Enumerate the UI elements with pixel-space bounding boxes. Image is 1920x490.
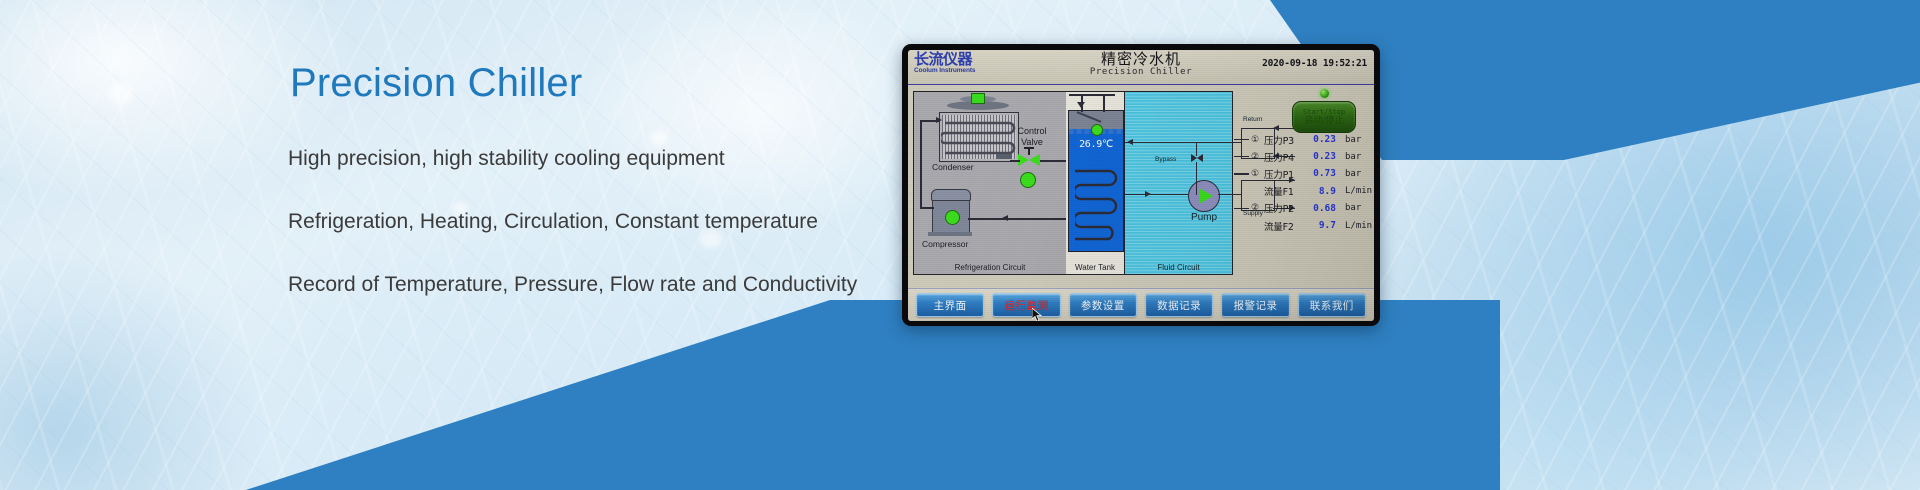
pipe-bypass-upper (1196, 142, 1197, 156)
compressor-head (931, 189, 971, 201)
readout-value: 0.68 (1308, 203, 1336, 214)
readout-unit: bar (1345, 169, 1361, 179)
nav-button-data-log[interactable]: 数据记录 (1145, 293, 1213, 317)
readout-value: 0.23 (1308, 151, 1336, 162)
tank-temperature-value: 26.9℃ (1069, 139, 1123, 150)
condenser-label: Condenser (932, 162, 974, 172)
zone-fluid-circuit: Pump Bypass (1124, 92, 1232, 274)
zone-label-water-tank: Water Tank (1066, 263, 1124, 272)
condenser-tubes-icon (941, 117, 1017, 157)
start-stop-label-en: Start/Stop (1303, 109, 1345, 116)
condenser-base (996, 154, 1012, 159)
pipe-condenser-to-valve (1010, 160, 1020, 162)
zone-refrigeration-circuit: Condenser Compressor Control Valve (914, 92, 1066, 274)
datetime-stamp: 2020-09-18 19:52:21 (1262, 58, 1367, 69)
pipe-return-header (1125, 142, 1241, 143)
pump-impeller-arrow (1199, 188, 1213, 204)
port-row (1234, 183, 1262, 200)
hmi-nav-bar: 主界面 运行监测 参数设置 数据记录 报警记录 联系我们 (908, 288, 1374, 321)
readout-label: 流量F2 (1264, 219, 1308, 233)
pipe-bypass-lower (1196, 162, 1197, 195)
port-index-column: ① ② ① ② (1234, 131, 1262, 234)
port-leader-line (1234, 208, 1249, 209)
pipe-compressor-suction (920, 207, 934, 209)
process-mimic-diagram: Condenser Compressor Control Valve (913, 91, 1233, 275)
flow-arrow-condenser-in (936, 117, 942, 123)
pump-label: Pump (1179, 212, 1229, 223)
control-valve-label-line1: Control (1017, 126, 1046, 136)
compressor-label: Compressor (922, 239, 968, 249)
fan-status-led (971, 93, 985, 104)
compressor-status-led (945, 210, 960, 225)
readout-unit: bar (1345, 203, 1361, 213)
hmi-header: 长流仪器 Coolum Instruments 精密冷水机 Precision … (908, 50, 1374, 85)
pump-icon (1188, 180, 1220, 212)
marketing-bullet-3: Record of Temperature, Pressure, Flow ra… (288, 272, 928, 298)
readout-row: 压力P4 0.23 bar (1264, 148, 1372, 165)
tank-level-led (1091, 124, 1103, 136)
hmi-screen: 长流仪器 Coolum Instruments 精密冷水机 Precision … (908, 50, 1374, 321)
measurement-readout-list: 压力P3 0.23 bar 压力P4 0.23 bar 压力P1 0.73 ba… (1264, 131, 1372, 234)
readout-label: 流量F1 (1264, 184, 1308, 198)
port-leader-line (1234, 156, 1249, 157)
port-leader-line (1234, 173, 1249, 174)
zone-water-tank: 26.9℃ Water Tank (1066, 92, 1124, 274)
compressor-icon (932, 195, 970, 235)
banner-root: Precision Chiller High precision, high s… (0, 0, 1920, 490)
marketing-copy: Precision Chiller High precision, high s… (288, 60, 928, 335)
flow-arrow-pump-suction (1145, 191, 1151, 197)
control-valve-label: Control Valve (1008, 126, 1056, 148)
readout-unit: bar (1345, 152, 1361, 162)
marketing-bullet-2: Refrigeration, Heating, Circulation, Con… (288, 209, 928, 235)
zone-label-refrigeration: Refrigeration Circuit (914, 263, 1066, 272)
port-row (1234, 217, 1262, 234)
port-row: ② (1234, 200, 1262, 217)
valve-stem (1028, 149, 1030, 155)
port-leader-line (1234, 139, 1249, 140)
hmi-content: Condenser Compressor Control Valve (908, 85, 1374, 288)
nav-button-alarm-log[interactable]: 报警记录 (1221, 293, 1289, 317)
bypass-right-wedge (1197, 154, 1203, 162)
flow-arrow-return-to-tank (1127, 139, 1133, 145)
readout-label: 压力P2 (1264, 201, 1308, 215)
control-valve-label-line2: Valve (1021, 137, 1043, 147)
readout-row: 流量F2 9.7 L/min (1264, 217, 1372, 234)
flow-arrow-compressor-return (1002, 215, 1008, 221)
readout-value: 8.9 (1308, 186, 1336, 197)
marketing-bullet-1: High precision, high stability cooling e… (288, 146, 928, 172)
port-row: ① (1234, 165, 1262, 182)
zone-label-fluid-circuit: Fluid Circuit (1125, 263, 1232, 272)
readout-row: 压力P2 0.68 bar (1264, 200, 1372, 217)
hmi-device-bezel: 长流仪器 Coolum Instruments 精密冷水机 Precision … (902, 44, 1380, 326)
control-valve-status-led (1020, 172, 1036, 188)
readout-row: 压力P1 0.73 bar (1264, 165, 1372, 182)
readout-unit: L/min (1345, 221, 1372, 231)
port-index-4: ② (1251, 203, 1259, 213)
running-status-led (1320, 89, 1329, 98)
nav-button-run-monitor[interactable]: 运行监测 (992, 293, 1060, 317)
flow-arrow-tank-fill (1077, 102, 1085, 108)
valve-handle (1024, 147, 1034, 149)
water-tank-icon: 26.9℃ (1068, 110, 1124, 252)
port-index-2: ② (1251, 152, 1259, 162)
pipe-valve-to-tank (1040, 160, 1068, 162)
port-index-1: ① (1251, 135, 1259, 145)
readout-row: 压力P3 0.23 bar (1264, 131, 1372, 148)
compressor-base (928, 232, 972, 236)
valve-right-wedge (1029, 154, 1040, 166)
control-valve-icon (1018, 154, 1040, 166)
port-row: ② (1234, 148, 1262, 165)
pipe-suction-vertical (920, 120, 922, 208)
start-stop-button[interactable]: Start/Stop 启动/停止 (1292, 101, 1356, 133)
pipe-tank-to-pump (1125, 194, 1188, 195)
readout-value: 0.23 (1308, 134, 1336, 145)
nav-button-home[interactable]: 主界面 (916, 293, 984, 317)
nav-button-parameters[interactable]: 参数设置 (1069, 293, 1137, 317)
evaporator-coil-icon (1075, 167, 1119, 243)
port-row: ① (1234, 131, 1262, 148)
readout-label: 压力P3 (1264, 133, 1308, 147)
readout-label: 压力P1 (1264, 167, 1308, 181)
nav-button-contact-us[interactable]: 联系我们 (1298, 293, 1366, 317)
bypass-label: Bypass (1155, 156, 1176, 163)
tank-fill-header (1069, 94, 1115, 96)
readout-value: 9.7 (1308, 220, 1336, 231)
readout-value: 0.73 (1308, 168, 1336, 179)
readout-unit: bar (1345, 135, 1361, 145)
start-stop-group: Start/Stop 启动/停止 (1292, 89, 1356, 133)
tank-fill-pipe-right (1103, 94, 1105, 112)
pipe-return-to-compressor (968, 218, 1068, 220)
port-index-3: ① (1251, 169, 1259, 179)
frost-fleck (108, 82, 134, 104)
start-stop-label-cn: 启动/停止 (1304, 116, 1343, 126)
readout-label: 压力P4 (1264, 150, 1308, 164)
readout-row: 流量F1 8.9 L/min (1264, 183, 1372, 200)
readout-unit: L/min (1345, 186, 1372, 196)
page-title: Precision Chiller (290, 60, 928, 106)
return-port-label: Return (1243, 116, 1263, 123)
